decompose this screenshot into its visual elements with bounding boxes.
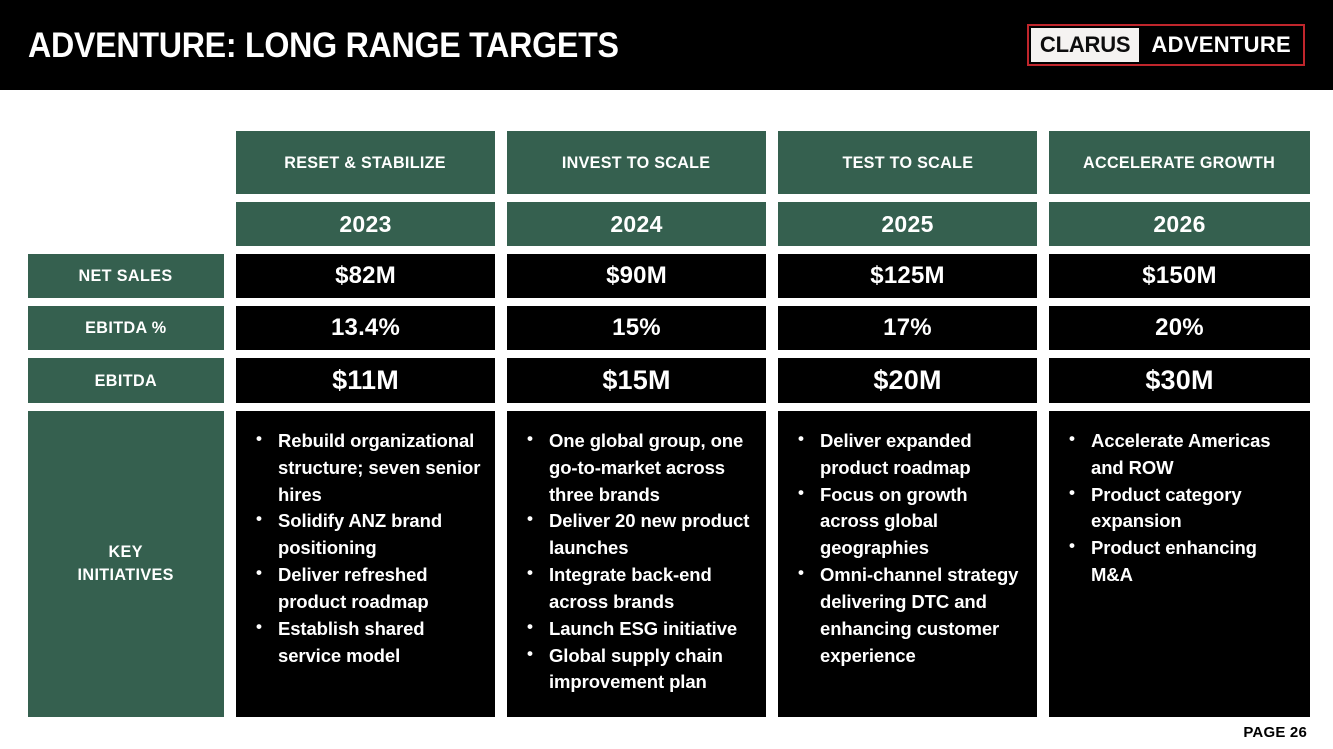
metric-value: 20% [1155, 314, 1204, 342]
key-initiatives-label-line2: INITIATIVES [78, 565, 174, 584]
ebitda-pct-2025: 17% [778, 306, 1037, 350]
slide: ADVENTURE: LONG RANGE TARGETS CLARUS ADV… [0, 0, 1333, 749]
initiative-item: Establish shared service model [248, 616, 483, 670]
metric-value: $20M [873, 365, 941, 396]
table-row-phase: RESET & STABILIZE INVEST TO SCALE TEST T… [28, 131, 1305, 194]
net-sales-2024: $90M [507, 254, 766, 298]
phase-label: TEST TO SCALE [842, 153, 973, 173]
ebitda-2024: $15M [507, 358, 766, 403]
net-sales-2026: $150M [1049, 254, 1310, 298]
year-label: 2023 [339, 211, 391, 238]
ebitda-pct-2026: 20% [1049, 306, 1310, 350]
col-gap [495, 202, 507, 246]
col-gap [766, 254, 778, 298]
col-gap [224, 411, 236, 717]
metric-value: $150M [1142, 262, 1216, 290]
initiatives-list: Deliver expanded product roadmapFocus on… [778, 411, 1037, 679]
initiative-item: Focus on growth across global geographie… [790, 482, 1025, 562]
phase-header-2024: INVEST TO SCALE [507, 131, 766, 194]
ebitda-pct-2023: 13.4% [236, 306, 495, 350]
initiatives-2025: Deliver expanded product roadmapFocus on… [778, 411, 1037, 717]
col-gap [766, 306, 778, 350]
year-cell-2026: 2026 [1049, 202, 1310, 246]
metric-value: $90M [606, 262, 667, 290]
ebitda-2025: $20M [778, 358, 1037, 403]
ebitda-pct-2024: 15% [507, 306, 766, 350]
metric-value: 17% [883, 314, 932, 342]
initiatives-2023: Rebuild organizational structure; seven … [236, 411, 495, 717]
row-label-ebitda: EBITDA [28, 358, 224, 403]
initiative-item: Product category expansion [1061, 482, 1298, 536]
initiative-item: Deliver expanded product roadmap [790, 428, 1025, 482]
key-initiatives-label: KEY INITIATIVES [78, 541, 174, 587]
initiative-item: Deliver refreshed product roadmap [248, 562, 483, 616]
table-row-key-initiatives: KEY INITIATIVES Rebuild organizational s… [28, 411, 1305, 717]
year-cell-2023: 2023 [236, 202, 495, 246]
metric-value: $15M [602, 365, 670, 396]
year-label: 2026 [1153, 211, 1205, 238]
row-label-key-initiatives: KEY INITIATIVES [28, 411, 224, 717]
col-gap [495, 254, 507, 298]
phase-row-label-empty [28, 131, 224, 194]
col-gap [495, 306, 507, 350]
initiatives-2026: Accelerate Americas and ROWProduct categ… [1049, 411, 1310, 717]
initiatives-list: Accelerate Americas and ROWProduct categ… [1049, 411, 1310, 599]
table-row-ebitda: EBITDA $11M $15M $20M $30M [28, 358, 1305, 403]
metric-value: $125M [870, 262, 944, 290]
col-gap [495, 131, 507, 194]
col-gap [224, 306, 236, 350]
logo-clarus-text: CLARUS [1031, 28, 1139, 62]
col-gap [1037, 306, 1049, 350]
table-row-net-sales: NET SALES $82M $90M $125M $150M [28, 254, 1305, 298]
col-gap [495, 358, 507, 403]
logo-adventure-text: ADVENTURE [1139, 28, 1301, 62]
col-gap [224, 131, 236, 194]
col-gap [766, 202, 778, 246]
col-gap [1037, 358, 1049, 403]
phase-label: INVEST TO SCALE [562, 153, 710, 173]
initiative-item: Integrate back-end across brands [519, 562, 754, 616]
col-gap [224, 358, 236, 403]
row-label-net-sales: NET SALES [28, 254, 224, 298]
key-initiatives-label-line1: KEY [109, 542, 143, 561]
targets-table: RESET & STABILIZE INVEST TO SCALE TEST T… [28, 131, 1305, 717]
metric-name: EBITDA [95, 371, 157, 391]
col-gap [1037, 254, 1049, 298]
metric-value: 15% [612, 314, 661, 342]
year-label: 2024 [610, 211, 662, 238]
ebitda-2023: $11M [236, 358, 495, 403]
col-gap [495, 411, 507, 717]
table-row-year: 2023 2024 2025 2026 [28, 202, 1305, 246]
net-sales-2023: $82M [236, 254, 495, 298]
phase-header-2026: ACCELERATE GROWTH [1049, 131, 1310, 194]
initiative-item: Omni-channel strategy delivering DTC and… [790, 562, 1025, 669]
metric-value: $30M [1145, 365, 1213, 396]
net-sales-2025: $125M [778, 254, 1037, 298]
initiative-item: Solidify ANZ brand positioning [248, 508, 483, 562]
metric-name: NET SALES [79, 266, 173, 286]
col-gap [224, 202, 236, 246]
metric-value: 13.4% [331, 314, 400, 342]
initiatives-2024: One global group, one go-to-market acros… [507, 411, 766, 717]
row-label-ebitda-pct: EBITDA % [28, 306, 224, 350]
initiative-item: Global supply chain improvement plan [519, 643, 754, 697]
slide-header: ADVENTURE: LONG RANGE TARGETS CLARUS ADV… [0, 0, 1333, 90]
initiative-item: Launch ESG initiative [519, 616, 754, 643]
year-cell-2024: 2024 [507, 202, 766, 246]
phase-label: ACCELERATE GROWTH [1083, 153, 1275, 173]
page-number: PAGE 26 [1243, 724, 1307, 741]
initiative-item: One global group, one go-to-market acros… [519, 428, 754, 508]
initiative-item: Product enhancing M&A [1061, 535, 1298, 589]
initiative-item: Rebuild organizational structure; seven … [248, 428, 483, 508]
initiatives-list: Rebuild organizational structure; seven … [236, 411, 495, 679]
initiatives-list: One global group, one go-to-market acros… [507, 411, 766, 706]
page-title: ADVENTURE: LONG RANGE TARGETS [28, 28, 619, 63]
col-gap [224, 254, 236, 298]
phase-header-2023: RESET & STABILIZE [236, 131, 495, 194]
col-gap [766, 411, 778, 717]
year-cell-2025: 2025 [778, 202, 1037, 246]
ebitda-2026: $30M [1049, 358, 1310, 403]
metric-value: $11M [332, 365, 399, 396]
year-label: 2025 [881, 211, 933, 238]
col-gap [1037, 202, 1049, 246]
col-gap [766, 131, 778, 194]
initiative-item: Deliver 20 new product launches [519, 508, 754, 562]
clarus-adventure-logo: CLARUS ADVENTURE [1027, 24, 1305, 66]
col-gap [766, 358, 778, 403]
col-gap [1037, 411, 1049, 717]
table-row-ebitda-pct: EBITDA % 13.4% 15% 17% 20% [28, 306, 1305, 350]
phase-header-2025: TEST TO SCALE [778, 131, 1037, 194]
col-gap [1037, 131, 1049, 194]
metric-name: EBITDA % [85, 318, 166, 338]
phase-label: RESET & STABILIZE [285, 153, 447, 173]
year-row-label-empty [28, 202, 224, 246]
metric-value: $82M [335, 262, 396, 290]
initiative-item: Accelerate Americas and ROW [1061, 428, 1298, 482]
